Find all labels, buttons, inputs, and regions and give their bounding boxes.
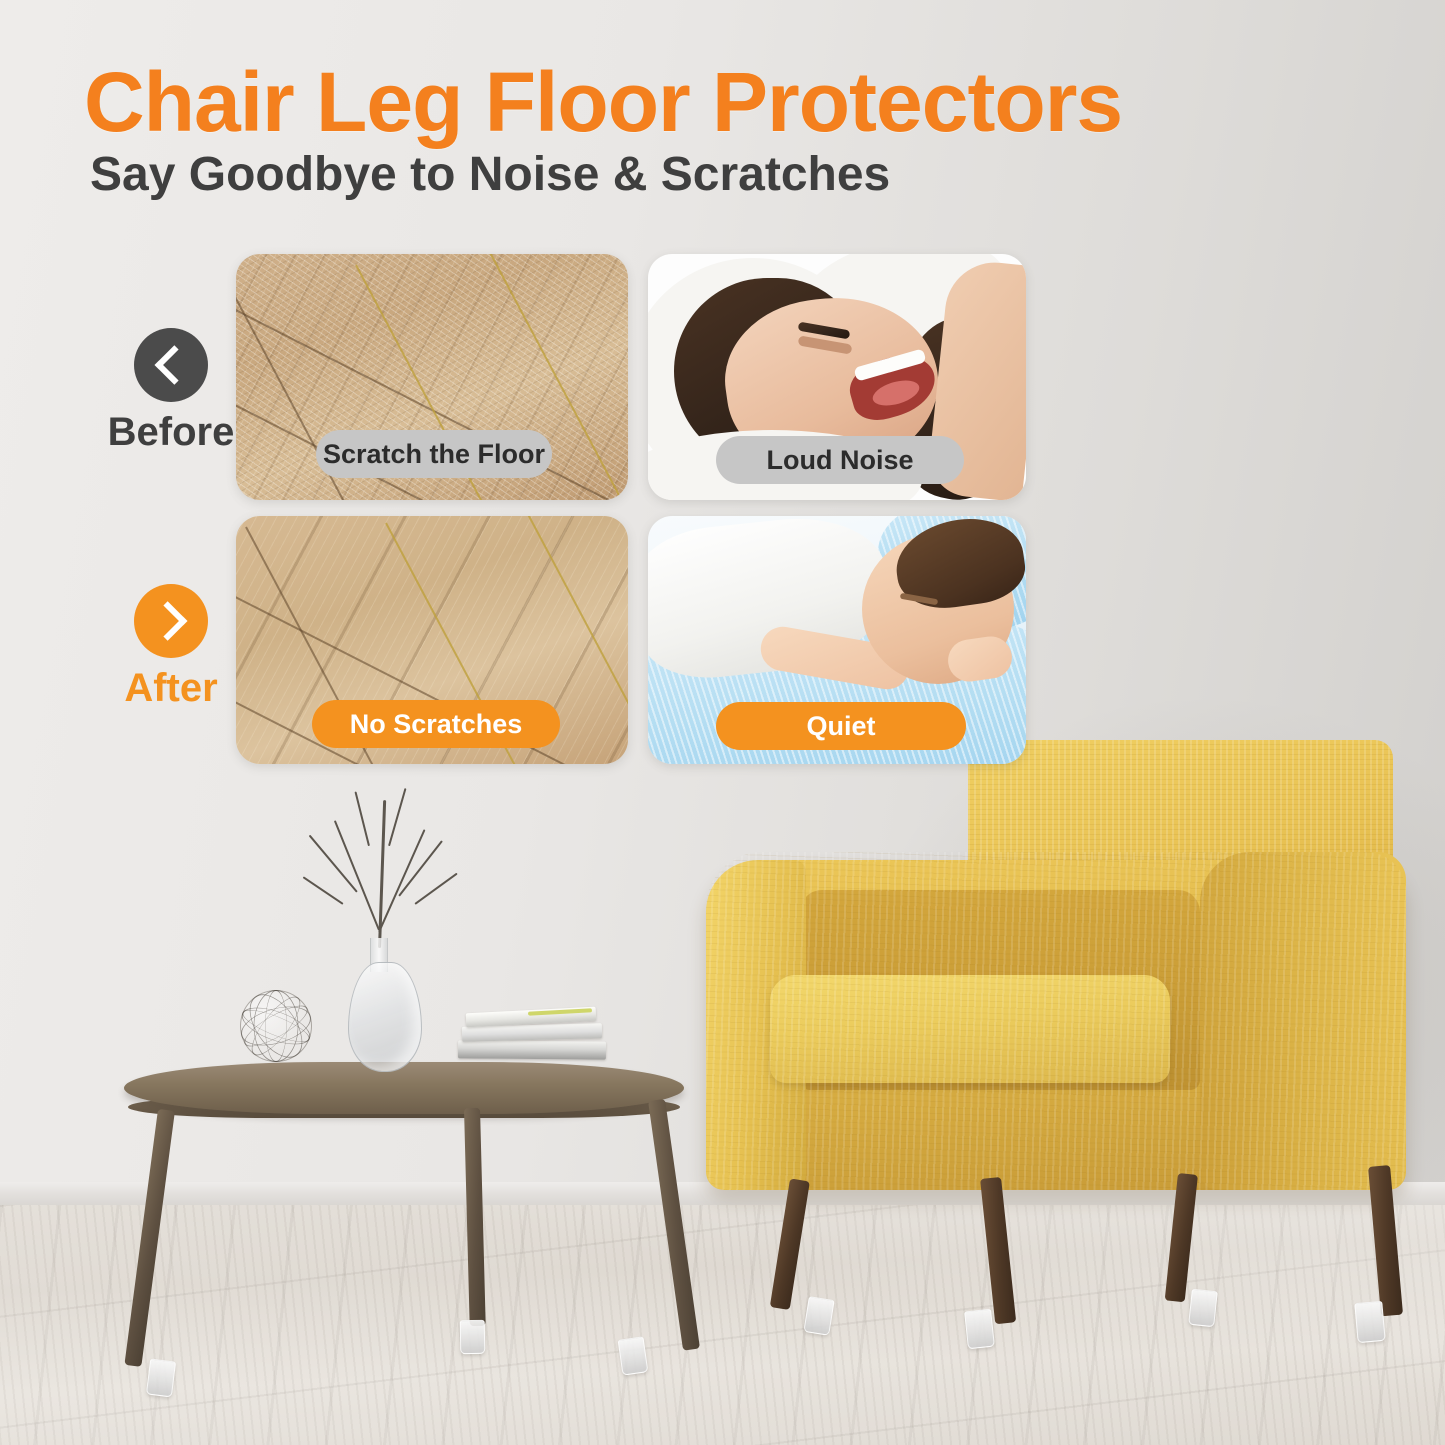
panel-scratch-the-floor: Scratch the Floor [236, 254, 628, 500]
chair-seat-cushion [770, 975, 1170, 1083]
glass-vase [348, 962, 422, 1072]
panel-caption: Quiet [716, 702, 966, 750]
panel-quiet: Quiet [648, 516, 1026, 764]
before-label: Before [96, 412, 246, 452]
panel-loud-noise: Loud Noise [648, 254, 1026, 500]
book [458, 1040, 606, 1059]
table-leg-protector [460, 1320, 486, 1354]
floor-gloss-reflection [0, 1205, 1445, 1445]
chevron-left-icon [134, 328, 208, 402]
chair-right-arm [1200, 852, 1406, 1190]
page-subtitle: Say Goodbye to Noise & Scratches [90, 148, 1090, 202]
after-rail: After [96, 584, 246, 708]
panel-caption: No Scratches [312, 700, 560, 748]
chair-leg-protector [803, 1296, 834, 1336]
panel-caption: Scratch the Floor [316, 430, 552, 478]
page-title: Chair Leg Floor Protectors [84, 60, 1204, 144]
table-top [124, 1062, 684, 1114]
product-infographic: Chair Leg Floor Protectors Say Goodbye t… [0, 0, 1445, 1445]
chair-leg-protector [1354, 1301, 1385, 1343]
panel-caption: Loud Noise [716, 436, 964, 484]
chair-leg-protector [964, 1309, 995, 1350]
table-leg-protector [618, 1336, 649, 1375]
chevron-right-icon [134, 584, 208, 658]
chair-leg-protector [1188, 1289, 1218, 1328]
after-label: After [96, 668, 246, 708]
before-rail: Before [96, 328, 246, 452]
table-leg-protector [146, 1359, 176, 1398]
panel-no-scratches: No Scratches [236, 516, 628, 764]
